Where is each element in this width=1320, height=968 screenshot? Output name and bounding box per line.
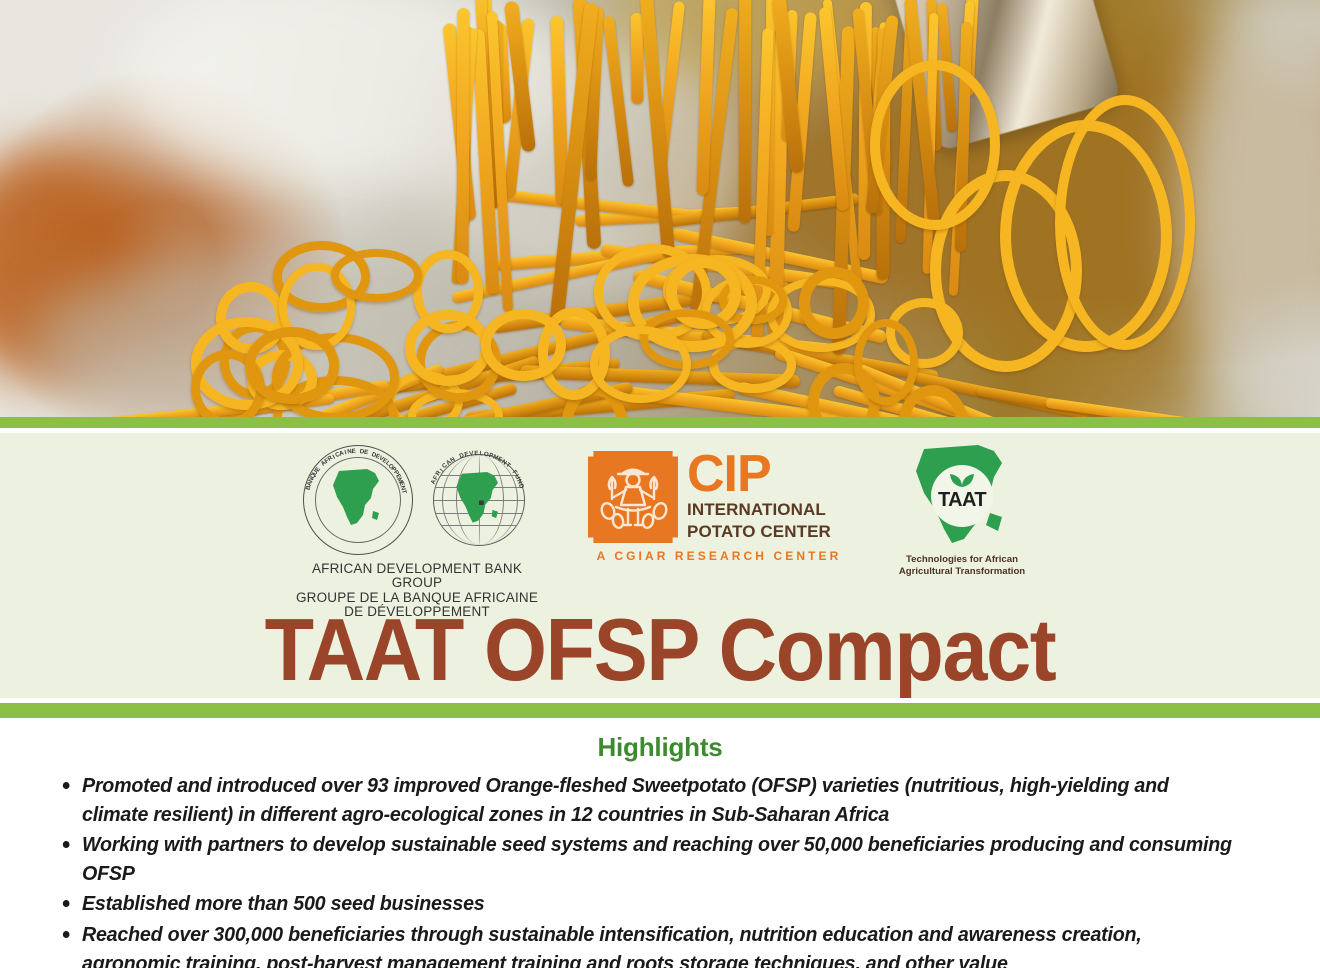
- noodle-loop: [245, 327, 339, 403]
- noodle-strand: [456, 8, 469, 284]
- afdb-caption-line1: AFRICAN DEVELOPMENT BANK GROUP: [292, 562, 542, 591]
- afdb-globe-inner-text: FONDS AFRICAIN DE DEVELOPPEMENT: [423, 444, 535, 556]
- cip-footer-text: A CGIAR RESEARCH CENTER: [588, 549, 850, 563]
- taat-caption: Technologies for African Agricultural Tr…: [899, 554, 1025, 577]
- cip-acronym: CIP: [687, 453, 831, 496]
- cip-logo-top: CIP INTERNATIONAL POTATO CENTER: [588, 451, 850, 543]
- green-divider-bottom: [0, 703, 1320, 718]
- africa-map-icon: [327, 467, 389, 533]
- noodle-loop: [481, 309, 566, 381]
- highlights-list: Promoted and introduced over 93 improved…: [0, 771, 1320, 968]
- taat-caption-line2: Agricultural Transformation: [899, 566, 1025, 578]
- page-title: TAAT OFSP Compact: [53, 606, 1267, 694]
- cip-subtitle-line1: INTERNATIONAL: [687, 501, 831, 519]
- hero-photo: [0, 0, 1320, 417]
- green-divider-top: [0, 417, 1320, 428]
- afdb-logo: BANQUE AFRICAINE DE DEVELOPPEMENT AFRICA…: [292, 441, 542, 619]
- noodle-loop: [854, 319, 918, 405]
- cip-subtitle-line2: POTATO CENTER: [687, 523, 831, 541]
- taat-africa-icon: TAAT: [902, 443, 1022, 549]
- cip-wordmark: CIP INTERNATIONAL POTATO CENTER: [687, 451, 831, 541]
- afdb-globe-icon: AFRICAN DEVELOPMENT FUND FONDS AFRICAIN …: [423, 444, 535, 556]
- partner-logos-row: BANQUE AFRICAINE DE DEVELOPPEMENT AFRICA…: [0, 441, 1320, 591]
- noodle-pile: [0, 0, 1320, 417]
- highlight-item: Reached over 300,000 beneficiaries throu…: [82, 920, 1236, 968]
- afdb-marks: BANQUE AFRICAINE DE DEVELOPPEMENT AFRICA…: [299, 441, 535, 559]
- afdb-seal-icon: BANQUE AFRICAINE DE DEVELOPPEMENT AFRICA…: [299, 441, 417, 559]
- noodle-loop: [405, 310, 491, 386]
- taat-logo: TAAT Technologies for African Agricultur…: [896, 441, 1028, 577]
- highlight-item: Promoted and introduced over 93 improved…: [82, 771, 1236, 829]
- noodle-loop: [799, 267, 870, 339]
- poster-page: BANQUE AFRICAINE DE DEVELOPPEMENT AFRICA…: [0, 0, 1320, 968]
- noodle-loop: [590, 326, 691, 403]
- noodle-loop: [1055, 95, 1195, 350]
- highlights-heading: Highlights: [0, 732, 1320, 763]
- highlights-section: Highlights Promoted and introduced over …: [0, 718, 1320, 968]
- cip-logo: CIP INTERNATIONAL POTATO CENTER A CGIAR …: [588, 441, 850, 563]
- noodle-strand: [739, 0, 752, 223]
- leaf-sprout-icon: [949, 472, 975, 487]
- cip-farmer-icon: [588, 451, 678, 543]
- taat-acronym: TAAT: [938, 490, 986, 510]
- noodle-loop: [870, 60, 1000, 230]
- branding-band: BANQUE AFRICAINE DE DEVELOPPEMENT AFRICA…: [0, 433, 1320, 698]
- farmer-and-plants-icon: [588, 451, 678, 543]
- highlight-item: Working with partners to develop sustain…: [82, 830, 1236, 888]
- noodle-strand: [603, 16, 634, 187]
- noodle-loop: [331, 249, 422, 302]
- highlight-item: Established more than 500 seed businesse…: [82, 889, 1236, 918]
- taat-caption-line1: Technologies for African: [899, 554, 1025, 566]
- taat-badge: TAAT: [931, 465, 993, 527]
